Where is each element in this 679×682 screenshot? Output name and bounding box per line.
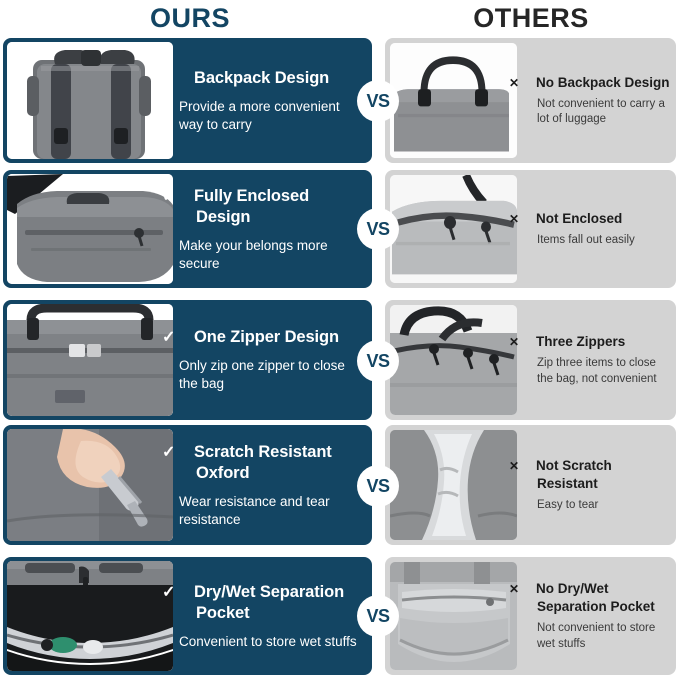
cross-icon: ✕ [523, 333, 536, 351]
others-feature-title: ✕Not Enclosed [523, 210, 673, 228]
comparison-row: ✓One Zipper Design Only zip one zipper t… [0, 300, 679, 420]
others-product-photo [390, 305, 517, 415]
cross-icon: ✕ [523, 457, 536, 475]
vs-badge: VS [357, 465, 399, 507]
others-product-photo [390, 562, 517, 670]
others-feature-title: ✕Not Scratch Resistant [523, 457, 673, 493]
others-column-title: OTHERS [385, 1, 677, 35]
ours-panel: ✓One Zipper Design Only zip one zipper t… [3, 300, 372, 420]
ours-feature-title-text: Dry/Wet Separation Pocket [194, 583, 344, 622]
ours-feature-desc: Convenient to store wet stuffs [179, 633, 365, 651]
others-text-block: ✕Not Enclosed Items fall out easily [523, 170, 673, 288]
check-icon: ✓ [179, 186, 194, 207]
others-feature-title: ✕No Dry/Wet Separation Pocket [523, 580, 673, 616]
check-icon: ✓ [179, 327, 194, 348]
comparison-row: ✓Dry/Wet Separation Pocket Convenient to… [0, 557, 679, 675]
vs-badge: VS [357, 208, 399, 250]
others-panel: ✕Not Scratch Resistant Easy to tear [385, 425, 676, 545]
ours-feature-desc: Provide a more convenient way to carry [179, 98, 365, 134]
column-headers: OURS OTHERS [0, 0, 679, 36]
cross-icon: ✕ [523, 210, 536, 228]
ours-feature-title: ✓Scratch Resistant Oxford [179, 442, 365, 484]
ours-product-photo [7, 429, 173, 541]
others-feature-desc: Not convenient to carry a lot of luggage [523, 97, 673, 128]
ours-feature-title: ✓Backpack Design [179, 68, 365, 89]
ours-feature-desc: Wear resistance and tear resistance [179, 493, 365, 529]
ours-feature-title: ✓Fully Enclosed Design [179, 186, 365, 228]
ours-text-block: ✓Dry/Wet Separation Pocket Convenient to… [179, 557, 369, 675]
others-feature-title-text: Three Zippers [536, 334, 625, 349]
comparison-row: ✓Scratch Resistant Oxford Wear resistanc… [0, 425, 679, 545]
ours-feature-title-text: One Zipper Design [194, 328, 339, 346]
ours-text-block: ✓Backpack Design Provide a more convenie… [179, 38, 369, 163]
others-panel: ✕No Dry/Wet Separation Pocket Not conven… [385, 557, 676, 675]
ours-panel: ✓Fully Enclosed Design Make your belongs… [3, 170, 372, 288]
others-feature-title-text: No Dry/Wet Separation Pocket [536, 581, 655, 614]
others-feature-desc: Not convenient to store wet stuffs [523, 621, 673, 652]
others-panel: ✕No Backpack Design Not convenient to ca… [385, 38, 676, 163]
others-feature-title-text: No Backpack Design [536, 75, 670, 90]
others-feature-title: ✕Three Zippers [523, 333, 673, 351]
vs-badge: VS [357, 340, 399, 382]
others-feature-desc: Easy to tear [523, 498, 673, 514]
others-panel: ✕Not Enclosed Items fall out easily [385, 170, 676, 288]
enclosed-duffel-bag-photo [7, 174, 173, 284]
cross-icon: ✕ [523, 74, 536, 92]
comparison-chart: OURS OTHERS [0, 0, 679, 682]
hand-scratching-oxford-fabric-photo [7, 429, 173, 541]
ours-feature-desc: Only zip one zipper to close the bag [179, 357, 365, 393]
ours-panel: ✓Scratch Resistant Oxford Wear resistanc… [3, 425, 372, 545]
torn-fabric-photo [390, 430, 517, 540]
others-product-photo [390, 430, 517, 540]
others-feature-title-text: Not Scratch Resistant [536, 458, 612, 491]
ours-product-photo [7, 561, 173, 671]
ours-feature-title-text: Fully Enclosed Design [194, 187, 309, 226]
others-product-photo [390, 175, 517, 283]
ours-feature-title-text: Backpack Design [194, 69, 329, 87]
ours-product-photo [7, 42, 173, 159]
others-panel: ✕Three Zippers Zip three items to close … [385, 300, 676, 420]
check-icon: ✓ [179, 68, 194, 89]
ours-feature-title: ✓One Zipper Design [179, 327, 365, 348]
three-zippers-closeup-photo [390, 305, 517, 415]
dry-wet-separation-pocket-photo [7, 561, 173, 671]
others-feature-title-text: Not Enclosed [536, 211, 622, 226]
vs-badge: VS [357, 595, 399, 637]
ours-text-block: ✓Fully Enclosed Design Make your belongs… [179, 170, 369, 288]
others-product-photo [390, 43, 517, 158]
single-zipper-closeup-photo [7, 304, 173, 416]
ours-feature-title-text: Scratch Resistant Oxford [194, 443, 332, 482]
others-text-block: ✕Three Zippers Zip three items to close … [523, 300, 673, 420]
ours-panel: ✓Backpack Design Provide a more convenie… [3, 38, 372, 163]
comparison-row: ✓Backpack Design Provide a more convenie… [0, 38, 679, 163]
ours-product-photo [7, 304, 173, 416]
others-feature-title: ✕No Backpack Design [523, 74, 673, 92]
gray-tote-bag-photo [390, 43, 517, 158]
ours-panel: ✓Dry/Wet Separation Pocket Convenient to… [3, 557, 372, 675]
vs-badge: VS [357, 80, 399, 122]
ours-text-block: ✓One Zipper Design Only zip one zipper t… [179, 300, 369, 420]
ours-feature-title: ✓Dry/Wet Separation Pocket [179, 582, 365, 624]
ours-feature-desc: Make your belongs more secure [179, 237, 365, 273]
single-compartment-interior-photo [390, 562, 517, 670]
others-text-block: ✕No Backpack Design Not convenient to ca… [523, 38, 673, 163]
others-text-block: ✕Not Scratch Resistant Easy to tear [523, 425, 673, 545]
check-icon: ✓ [179, 442, 194, 463]
others-text-block: ✕No Dry/Wet Separation Pocket Not conven… [523, 557, 673, 675]
open-top-bag-photo [390, 175, 517, 283]
backpack-rear-straps-photo [7, 42, 173, 159]
comparison-row: ✓Fully Enclosed Design Make your belongs… [0, 170, 679, 288]
ours-column-title: OURS [40, 1, 340, 35]
others-feature-desc: Items fall out easily [523, 233, 673, 249]
others-feature-desc: Zip three items to close the bag, not co… [523, 356, 673, 387]
ours-text-block: ✓Scratch Resistant Oxford Wear resistanc… [179, 425, 369, 545]
ours-product-photo [7, 174, 173, 284]
check-icon: ✓ [179, 582, 194, 603]
cross-icon: ✕ [523, 580, 536, 598]
